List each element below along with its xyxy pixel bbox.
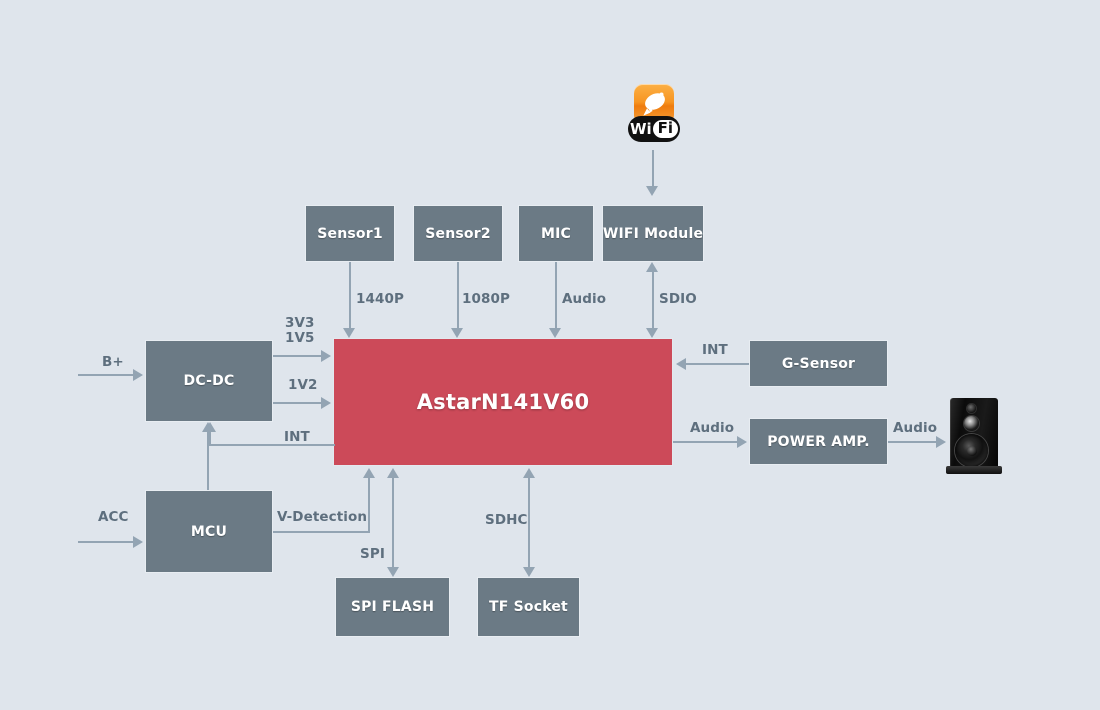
label-int-dcdc: INT (284, 429, 310, 445)
arrowhead-bplus-dcdc (133, 369, 143, 381)
label-1440p: 1440P (356, 291, 404, 307)
speaker-woofer-dustcap (967, 446, 977, 456)
connector-mic-chip (555, 262, 557, 328)
connector-acc-mcu (78, 541, 135, 543)
block-main-chip[interactable]: AstarN141V60 (333, 338, 673, 466)
arrowhead-wifi-icon-to-module (646, 186, 658, 196)
wifi-antenna-icon: WiFi (628, 84, 680, 150)
connector-wifi-chip (652, 272, 654, 328)
block-wifi-module[interactable]: WIFI Module (602, 205, 704, 262)
connector-sensor2-chip (457, 262, 459, 328)
arrowhead-wifi-chip-down (646, 328, 658, 338)
connector-mcu-chip-vdet-h (273, 531, 370, 533)
arrowhead-acc-mcu (133, 536, 143, 548)
connector-chip-amp (673, 441, 737, 443)
arrowhead-gsensor-chip (676, 358, 686, 370)
label-1080p: 1080P (462, 291, 510, 307)
block-g-sensor-label: G-Sensor (782, 356, 855, 372)
connector-dcdc-rail-1v2 (273, 402, 323, 404)
connector-mcu-chip-vdet-v (368, 478, 370, 533)
speaker-tweeter (967, 404, 976, 413)
block-main-chip-label: AstarN141V60 (417, 390, 590, 414)
label-acc: ACC (98, 509, 129, 525)
arrowhead-chip-tfsocket-down (523, 567, 535, 577)
block-power-amp-label: POWER AMP. (767, 434, 870, 450)
arrowhead-chip-tfsocket-up (523, 468, 535, 478)
wifi-logo-fi-text: Fi (653, 120, 678, 138)
label-sdio: SDIO (659, 291, 697, 307)
connector-chip-dcdc-int-h (209, 444, 335, 446)
block-diagram-canvas: WiFi Sensor1 Sensor2 MIC WIFI Module 144… (0, 0, 1100, 710)
connector-amp-speaker (888, 441, 940, 443)
label-b-plus: B+ (102, 354, 124, 370)
connector-wifi-icon-to-module (652, 150, 654, 188)
label-3v3: 3V3 (285, 315, 315, 331)
arrowhead-wifi-chip-up (646, 262, 658, 272)
label-1v5: 1V5 (285, 330, 315, 346)
label-spi: SPI (360, 546, 385, 562)
connector-chip-tfsocket (528, 478, 530, 567)
arrowhead-chip-spiflash-down (387, 567, 399, 577)
label-audio-mic: Audio (562, 291, 606, 307)
arrowhead-dcdc-rail-1v2 (321, 397, 331, 409)
block-mcu[interactable]: MCU (145, 490, 273, 573)
block-sensor1[interactable]: Sensor1 (305, 205, 395, 262)
arrowhead-amp-speaker (936, 436, 946, 448)
label-v-detection: V-Detection (277, 509, 367, 525)
block-spi-flash[interactable]: SPI FLASH (335, 577, 450, 637)
connector-dcdc-rail-3v3-1v5 (273, 355, 323, 357)
block-mcu-label: MCU (191, 524, 227, 540)
label-audio-speaker: Audio (893, 420, 937, 436)
block-sensor1-label: Sensor1 (317, 226, 383, 242)
block-mic[interactable]: MIC (518, 205, 594, 262)
block-sensor2[interactable]: Sensor2 (413, 205, 503, 262)
label-1v2: 1V2 (288, 377, 318, 393)
block-tf-socket[interactable]: TF Socket (477, 577, 580, 637)
block-mic-label: MIC (541, 226, 571, 242)
arrowhead-mcu-chip-vdet (363, 468, 375, 478)
arrowhead-dcdc-rail-3v3-1v5 (321, 350, 331, 362)
connector-chip-dcdc-int-v (209, 432, 211, 446)
label-int-gsensor: INT (702, 342, 728, 358)
speaker-base (946, 466, 1002, 474)
arrowhead-sensor2-chip (451, 328, 463, 338)
wifi-logo-badge: WiFi (628, 116, 680, 142)
block-sensor2-label: Sensor2 (425, 226, 491, 242)
block-spi-flash-label: SPI FLASH (351, 599, 434, 615)
wifi-logo-wi-text: Wi (630, 122, 653, 137)
block-power-amp[interactable]: POWER AMP. (749, 418, 888, 465)
arrowhead-mic-chip (549, 328, 561, 338)
connector-gsensor-chip (686, 363, 749, 365)
speaker-icon (946, 396, 1002, 478)
arrowhead-mcu-dcdc (202, 422, 214, 432)
connector-bplus-dcdc (78, 374, 135, 376)
block-tf-socket-label: TF Socket (489, 599, 568, 615)
label-sdhc: SDHC (485, 512, 528, 528)
arrowhead-chip-amp (737, 436, 747, 448)
block-wifi-module-label: WIFI Module (603, 226, 703, 242)
label-audio-amp-in: Audio (690, 420, 734, 436)
block-dc-dc-label: DC-DC (184, 373, 235, 389)
arrowhead-sensor1-chip (343, 328, 355, 338)
connector-sensor1-chip (349, 262, 351, 328)
block-g-sensor[interactable]: G-Sensor (749, 340, 888, 387)
speaker-midrange (964, 416, 979, 431)
connector-chip-spiflash (392, 478, 394, 567)
connector-mcu-dcdc (207, 432, 209, 490)
label-rail-3v3-1v5: 3V3 1V5 (285, 316, 315, 346)
block-dc-dc[interactable]: DC-DC (145, 340, 273, 422)
arrowhead-chip-spiflash-up (387, 468, 399, 478)
